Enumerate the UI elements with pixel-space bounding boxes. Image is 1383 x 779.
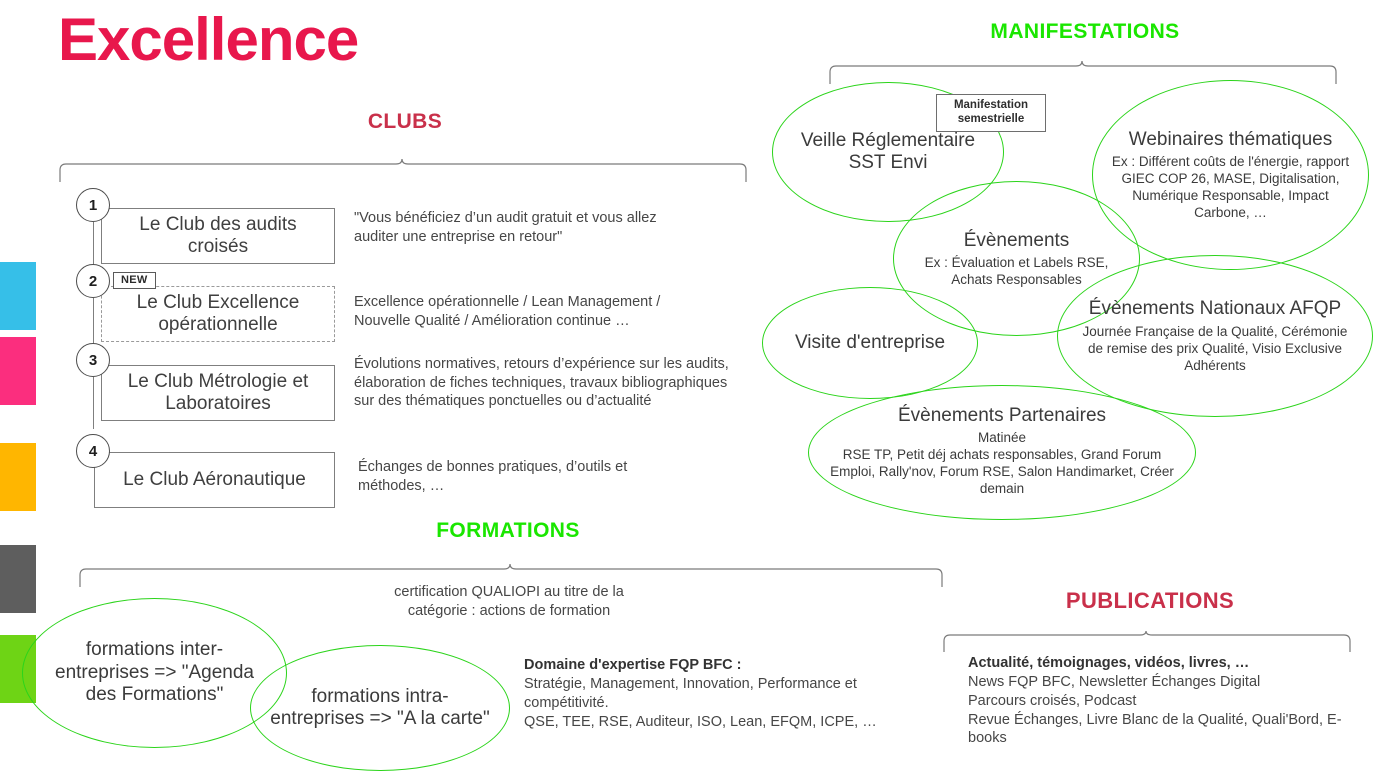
club-description-2: Excellence opérationnelle / Lean Managem… [354,293,704,330]
side-strip-amber [0,443,36,511]
formations-expertise-line1: Stratégie, Management, Innovation, Perfo… [524,675,924,713]
ellipse-heading-evenements: Évènements [964,230,1070,252]
club-box-3[interactable]: Le Club Métrologie et Laboratoires [101,365,335,421]
formations-expertise-line2: QSE, TEE, RSE, Auditeur, ISO, Lean, EFQM… [524,713,924,732]
side-strip-cyan [0,262,36,330]
section-title-clubs: CLUBS [305,110,505,134]
ellipse-heading-formations-inter: formations inter-entreprises => "Agenda … [42,639,267,706]
formations-certification-text: certification QUALIOPI au titre de la ca… [380,583,638,621]
section-title-publications: PUBLICATIONS [1030,588,1270,614]
ellipse-label-formations-inter: formations inter-entreprises => "Agenda … [42,612,267,734]
club-description-1: "Vous bénéficiez d’un audit gratuit et v… [354,209,704,246]
ellipse-detail-nationaux: Journée Française de la Qualité, Cérémon… [1082,323,1348,374]
ellipse-label-formations-intra: formations intra-entreprises => "A la ca… [268,658,492,758]
formations-expertise-block: Domaine d'expertise FQP BFC : Stratégie,… [524,656,924,731]
ellipse-heading-partenaires: Évènements Partenaires [898,405,1106,427]
ellipse-heading-webinaires: Webinaires thématiques [1129,129,1332,151]
section-title-formations: FORMATIONS [408,519,608,543]
ellipse-heading-visite: Visite d'entreprise [795,332,945,354]
publications-line-2: Parcours croisés, Podcast [968,692,1368,711]
club-number-1: 1 [76,188,110,222]
ellipse-label-visite-entreprise: Visite d'entreprise [780,305,960,381]
club-description-4: Échanges de bonnes pratiques, d’outils e… [358,458,678,495]
club-description-3: Évolutions normatives, retours d’expérie… [354,355,734,411]
publications-headline: Actualité, témoignages, vidéos, livres, … [968,654,1368,673]
ellipse-heading-formations-intra: formations intra-entreprises => "A la ca… [268,686,492,731]
club-new-badge: NEW [113,272,156,289]
publications-line-3: Revue Échanges, Livre Blanc de la Qualit… [968,711,1368,749]
formations-expertise-title: Domaine d'expertise FQP BFC : [524,656,924,675]
club-number-2: 2 [76,264,110,298]
publications-line-1: News FQP BFC, Newsletter Échanges Digita… [968,673,1368,692]
manifestations-bracket [828,60,1340,84]
section-title-manifestations: MANIFESTATIONS [935,20,1235,44]
club-box-4[interactable]: Le Club Aéronautique [94,452,335,508]
ellipse-heading-nationaux: Évènements Nationaux AFQP [1089,298,1341,320]
club-number-3: 3 [76,343,110,377]
side-strip-gray [0,545,36,613]
club-number-4: 4 [76,434,110,468]
ellipse-detail-partenaires: Matinée RSE TP, Petit déj achats respons… [826,429,1178,497]
manifestation-semestrielle-box: Manifestation semestrielle [936,94,1046,132]
ellipse-label-evenements-nationaux: Évènements Nationaux AFQP Journée França… [1082,272,1348,400]
ellipse-heading-veille: Veille Réglementaire SST Envi [790,130,986,175]
side-strip-pink [0,337,36,405]
publications-bracket [942,630,1354,652]
publications-text-block: Actualité, témoignages, vidéos, livres, … [968,654,1368,748]
ellipse-label-evenements-partenaires: Évènements Partenaires Matinée RSE TP, P… [826,392,1178,510]
ellipse-label-webinaires: Webinaires thématiques Ex : Différent co… [1104,88,1357,262]
clubs-bracket [58,158,750,182]
ellipse-detail-webinaires: Ex : Différent coûts de l'énergie, rappo… [1104,153,1357,221]
page-title: Excellence [58,8,478,71]
club-box-2[interactable]: Le Club Excellence opérationnelle [101,286,335,342]
club-box-1[interactable]: Le Club des audits croisés [101,208,335,264]
club-connector-3 [93,377,94,429]
